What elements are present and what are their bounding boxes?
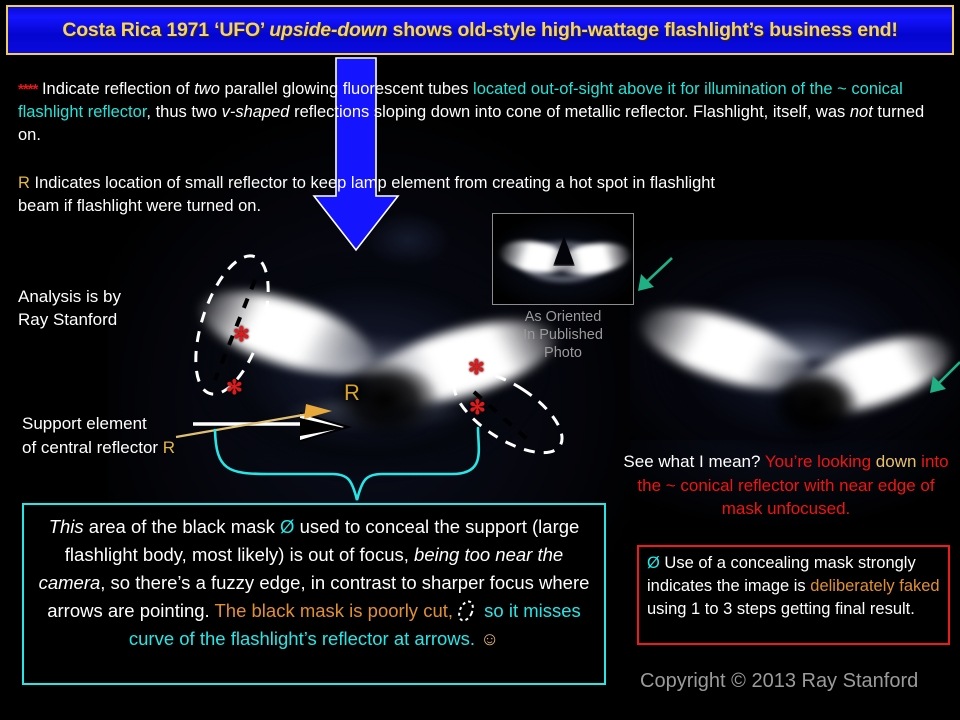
sw-white: See what I mean? [623,452,764,471]
analysis-line1: Analysis is by [18,285,121,308]
right-saucer-core-shadow [770,370,860,440]
p1-italic-not: not [850,103,873,121]
p1-seg2: parallel glowing fluorescent tubes [220,80,473,98]
inset-caption: As Oriented In Published Photo [492,308,634,362]
rb-t2: using 1 to 3 steps getting final result. [647,600,915,618]
see-what-i-mean-text: See what I mean? You’re looking down int… [618,450,954,521]
p1-seg1: Indicate reflection of [37,80,194,98]
small-dashed-oval-icon [453,600,479,622]
analysis-credit: Analysis is by Ray Stanford [18,285,121,331]
star-marker: ✻ [469,398,486,418]
p1-italic-vshaped: v-shaped [222,103,290,121]
support-r-marker: R [163,438,175,457]
slide-title-bar: Costa Rica 1971 ‘UFO’ upside-down shows … [6,5,954,55]
title-post: shows old-style high-wattage flashlight’… [387,19,897,41]
copyright-notice: Copyright © 2013 Ray Stanford [640,670,918,693]
p2-r-marker: R [18,174,30,192]
cb-t1: area of the black mask [84,516,280,537]
support-line2-text: of central reflector [22,438,163,457]
cyan-callout-box: This area of the black mask Ø used to co… [22,503,606,685]
paragraph-two: R Indicates location of small reflector … [18,172,718,218]
inset-caption-line1: As Oriented [492,308,634,326]
p1-seg4: reflections sloping down into cone of me… [290,103,850,121]
analysis-line2: Ray Stanford [18,308,121,331]
slide-canvas: As Oriented In Published Photo Costa Ric… [0,0,960,720]
rb-orange: deliberately faked [810,577,939,595]
title-italic: upside-down [269,19,387,41]
cyan-box-text: This area of the black mask Ø used to co… [34,513,594,653]
support-line2: of central reflector R [22,436,175,460]
oslash-symbol: Ø [647,554,660,572]
cb-italic-this: This [49,516,84,537]
star-marker: ✻ [233,325,250,345]
smiley-icon: ☺ [480,628,499,649]
inset-published-photo [492,213,634,305]
inset-caption-line3: Photo [492,344,634,362]
star-marker: ✻ [468,358,485,378]
page-title: Costa Rica 1971 ‘UFO’ upside-down shows … [62,19,897,42]
red-box-text: Ø Use of a concealing mask strongly indi… [647,552,940,621]
title-pre: Costa Rica 1971 ‘UFO’ [62,19,269,41]
sw-red1: You’re looking [765,452,871,471]
p1-italic-two: two [194,80,220,98]
inset-caption-line2: In Published [492,326,634,344]
p2-text: Indicates location of small reflector to… [18,174,715,215]
r-label-on-photo: R [344,380,360,406]
p1-seg3: , thus two [146,103,221,121]
asterisk-markers: **** [18,81,37,98]
sw-gold: down [876,452,917,471]
paragraph-one: **** Indicate reflection of two parallel… [18,78,948,147]
oslash-symbol: Ø [280,516,294,537]
red-callout-box: Ø Use of a concealing mask strongly indi… [637,545,950,645]
cb-orange: The black mask is poorly cut, [214,600,453,621]
support-line1: Support element [22,412,175,436]
cb-t4: . [470,628,480,649]
star-marker: ✻ [226,378,243,398]
support-element-label: Support element of central reflector R [22,412,175,460]
